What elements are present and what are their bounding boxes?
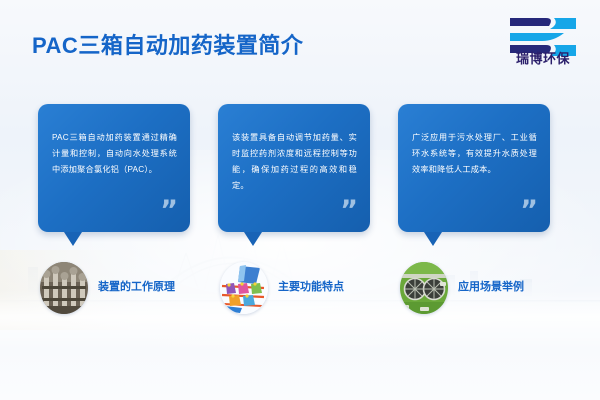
info-card-1: PAC三箱自动加药装置通过精确计量和控制，自动向水处理系统中添加聚合氯化铝（PA…	[38, 104, 190, 232]
quote-mark-icon: ”	[160, 197, 178, 224]
info-card-3: 广泛应用于污水处理厂、工业循环水系统等，有效提升水质处理效率和降低人工成本。 ”	[398, 104, 550, 232]
aerial-treatment-tanks-photo-icon	[400, 262, 448, 314]
header: PAC三箱自动加药装置简介 瑞博环保	[0, 0, 600, 88]
info-card-1-tail	[64, 232, 82, 246]
info-card-2: 该装置具备自动调节加药量、实时监控药剂浓度和远程控制等功能，确保加药过程的高效和…	[218, 104, 370, 232]
info-card-2-text: 该装置具备自动调节加药量、实时监控药剂浓度和远程控制等功能，确保加药过程的高效和…	[232, 130, 357, 194]
colorful-flowchart-photo-icon	[220, 262, 268, 314]
quote-mark-icon: ”	[520, 197, 538, 224]
info-card-1-text: PAC三箱自动加药装置通过精确计量和控制，自动向水处理系统中添加聚合氯化铝（PA…	[52, 130, 177, 178]
quote-mark-icon: ”	[340, 197, 358, 224]
industrial-machinery-photo-icon	[40, 262, 88, 314]
info-card-2-tail	[244, 232, 262, 246]
info-card-3-tail	[424, 232, 442, 246]
footer-item-key-features-label: 主要功能特点	[278, 278, 344, 294]
brand-name: 瑞博环保	[502, 48, 584, 67]
footer-item-working-principle-label: 装置的工作原理	[98, 278, 175, 294]
background-sheen	[0, 290, 600, 350]
footer-item-application-examples-label: 应用场景举例	[458, 278, 524, 294]
page-title: PAC三箱自动加药装置简介	[32, 28, 303, 60]
info-card-3-text: 广泛应用于污水处理厂、工业循环水系统等，有效提升水质处理效率和降低人工成本。	[412, 130, 537, 178]
